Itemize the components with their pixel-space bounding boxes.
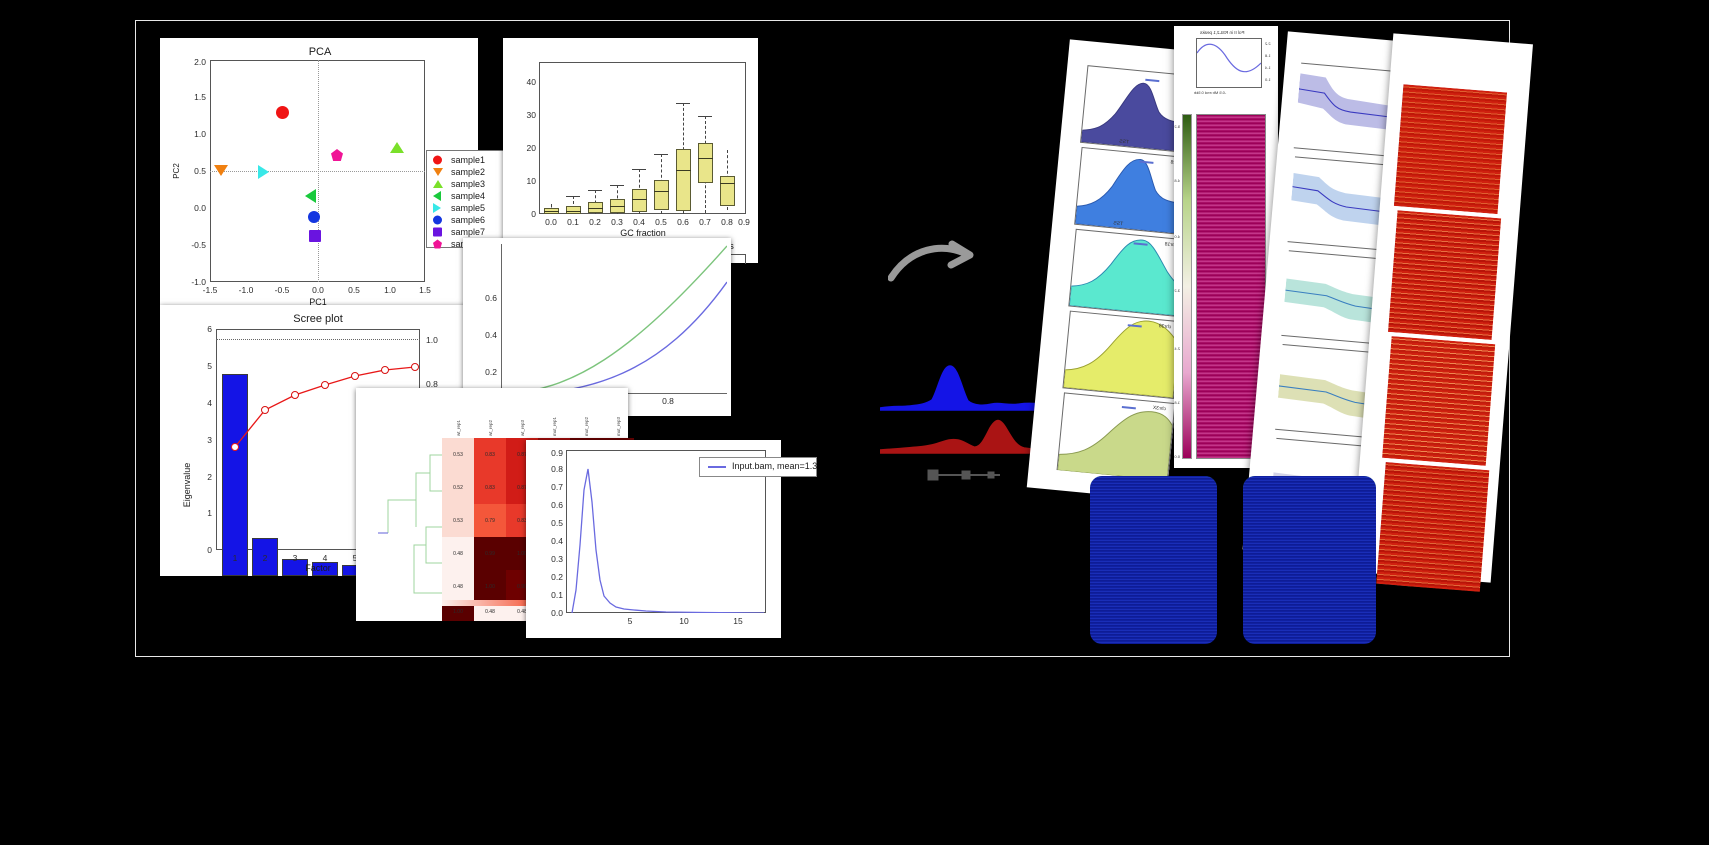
panel-gc-bias: 0 10 20 30 40 xyxy=(503,38,758,263)
gc-cap-3 xyxy=(610,185,624,186)
heatmap-cell: 0.53 xyxy=(442,438,474,471)
scree-ytick-0: 0 xyxy=(207,545,212,555)
scree-cum-point-4 xyxy=(321,381,329,389)
corr-collabel-5: mut_rep3 xyxy=(616,417,621,436)
gc-cap-2 xyxy=(588,190,602,191)
metaprofile-row-2: chr18 xyxy=(1068,229,1187,317)
jet-heatmap-block-3 xyxy=(1376,462,1489,592)
input-track xyxy=(880,421,1055,454)
legend-label: sample4 xyxy=(451,190,485,202)
frag-xtick-2: 15 xyxy=(733,616,742,626)
fp-ytick-2: 0.6 xyxy=(485,293,497,303)
gc-median-5 xyxy=(654,191,669,192)
polii-mini-ytick-3: 2.2 xyxy=(1265,41,1271,46)
viridis-heatmap-0 xyxy=(1090,476,1217,644)
polii-mini-ytick-0: 1.0 xyxy=(1265,77,1271,82)
scree-xlabel: Factor xyxy=(305,563,331,573)
heatmap-cell: 0.52 xyxy=(442,471,474,504)
circle-icon xyxy=(433,216,442,225)
triangle-down-icon xyxy=(433,168,443,176)
pca-point-sample7 xyxy=(309,230,321,242)
gc-median-2 xyxy=(588,208,603,209)
scree-cum-point-1 xyxy=(231,443,239,451)
legend-label: sample6 xyxy=(451,214,485,226)
pca-xtick-3: 0.0 xyxy=(312,285,324,295)
scree-cum-point-2 xyxy=(261,406,269,414)
metaprofile-xtick-center: TSS xyxy=(1113,220,1123,227)
legend-label: sample2 xyxy=(451,166,485,178)
polii-mini-ytick-1: 1.4 xyxy=(1265,65,1271,70)
scree-title: Scree plot xyxy=(293,313,343,325)
heatmap-cell: 0.83 xyxy=(474,471,506,504)
polii-mini-curve xyxy=(1197,39,1261,87)
metaprofile-xtick-center: TSS xyxy=(1119,139,1129,146)
pca-xtick-4: 0.5 xyxy=(348,285,360,295)
gc-box-8 xyxy=(720,176,735,206)
polii-ytick-5: 4.8 xyxy=(1174,178,1180,183)
jet-heatmap-block-1 xyxy=(1388,210,1501,340)
gc-xlabel: GC fraction xyxy=(620,228,666,238)
scree-ytick-5: 5 xyxy=(207,361,212,371)
gc-box-4 xyxy=(632,189,647,212)
polii-ytick-6: 5.2 xyxy=(1174,124,1180,129)
viridis-texture xyxy=(1090,476,1217,644)
gc-xtick-3: 0.3 xyxy=(611,217,623,227)
panel-pca: PCA -1.0 -0.5 0.0 0.5 1.0 1.5 2.0 -1.5 -… xyxy=(160,38,478,319)
pca-ylabel: PC2 xyxy=(172,163,181,179)
frag-ytick-7: 0.7 xyxy=(551,482,563,492)
polii-ytick-1: 1.8 xyxy=(1174,400,1180,405)
pca-point-sample2 xyxy=(214,165,228,176)
metaprofile-row-4: chr3X xyxy=(1057,392,1176,480)
gc-ytick-0: 0 xyxy=(531,209,536,219)
heatmap-cell: 0.48 xyxy=(442,570,474,603)
frag-ytick-8: 0.8 xyxy=(551,464,563,474)
pca-xtick-6: 1.5 xyxy=(419,285,431,295)
triangle-right-icon xyxy=(433,203,441,213)
frag-ytick-1: 0.1 xyxy=(551,590,563,600)
viridis-heatmap-1 xyxy=(1243,476,1376,644)
frag-ytick-9: 0.9 xyxy=(551,448,563,458)
frag-ytick-5: 0.5 xyxy=(551,518,563,528)
pca-ytick-5: 1.5 xyxy=(194,92,206,102)
frag-ytick-0: 0.0 xyxy=(551,608,563,618)
metaprofile-label: chr38 xyxy=(1159,323,1172,330)
pca-vline xyxy=(318,60,319,282)
gc-median-7 xyxy=(698,158,713,159)
scree-xtick-4: 4 xyxy=(323,553,328,563)
gc-cap-4 xyxy=(632,169,646,170)
heatmap-cell: 1.00 xyxy=(474,570,506,603)
fraglen-legend-label: Input.bam, mean=1.3 xyxy=(732,461,817,471)
gc-xtick-2: 0.2 xyxy=(589,217,601,227)
gc-xtick-0: 0.0 xyxy=(545,217,557,227)
heatmap-cell: 0.53 xyxy=(442,504,474,537)
gc-cap-1 xyxy=(566,196,580,197)
scree-ytick-2: 2 xyxy=(207,472,212,482)
polii-ytick-0: 0.0 xyxy=(1174,454,1180,459)
scree-ylabel: Eigenvalue xyxy=(182,463,192,508)
gene-model-icon xyxy=(928,470,1000,480)
metaprofile-row-3: chr38 xyxy=(1062,311,1181,399)
polii-xlabel: -0.5 Mb end 0.5kb xyxy=(1194,90,1226,95)
polii-title: Pol II in RSL2,1 peaks xyxy=(1200,30,1245,35)
jet-heatmap-block-0 xyxy=(1394,84,1507,214)
triangle-left-icon xyxy=(433,191,441,201)
jet-heatmap-texture xyxy=(1388,210,1501,340)
fraglen-legend: Input.bam, mean=1.3 xyxy=(699,457,817,477)
legend-label: sample5 xyxy=(451,202,485,214)
pca-xtick-5: 1.0 xyxy=(384,285,396,295)
viridis-texture xyxy=(1243,476,1376,644)
gc-box-5 xyxy=(654,180,669,210)
jet-heatmap-block-2 xyxy=(1382,336,1495,466)
polii-mini-ytick-2: 1.8 xyxy=(1265,53,1271,58)
legend-line-icon xyxy=(708,466,726,468)
frag-xtick-0: 5 xyxy=(628,616,633,626)
scree-y2tick-1: 1.0 xyxy=(426,335,438,345)
jet-heatmap-texture xyxy=(1382,336,1495,466)
pca-ytick-4: 1.0 xyxy=(194,129,206,139)
gc-cap-7 xyxy=(698,116,712,117)
gc-xtick-7: 0.7 xyxy=(699,217,711,227)
pca-title: PCA xyxy=(309,46,332,58)
correlation-dendrogram xyxy=(376,433,442,608)
pca-ytick-1: -0.5 xyxy=(191,240,206,250)
gc-cap-6 xyxy=(676,103,690,104)
gc-median-6 xyxy=(676,170,691,171)
figure-canvas: PCA -1.0 -0.5 0.0 0.5 1.0 1.5 2.0 -1.5 -… xyxy=(0,0,1709,845)
gc-median-4 xyxy=(632,199,647,200)
gc-ytick-4: 40 xyxy=(527,77,536,87)
panel-fragment-length: 0.0 0.1 0.2 0.3 0.4 0.5 0.6 0.7 0.8 0.9 … xyxy=(526,440,781,638)
corr-collabel-4: mut_rep2 xyxy=(584,417,589,436)
scree-ytick-6: 6 xyxy=(207,324,212,334)
gc-xtick-6: 0.6 xyxy=(677,217,689,227)
corr-collabel-2: wt_rep3 xyxy=(520,420,525,436)
pca-ytick-2: 0.0 xyxy=(194,203,206,213)
pca-point-sample3 xyxy=(390,142,404,153)
pca-ytick-3: 0.5 xyxy=(194,166,206,176)
polii-ytick-2: 2.4 xyxy=(1174,346,1180,351)
corr-collabel-1: wt_rep2 xyxy=(488,420,493,436)
pentagon-icon xyxy=(433,240,442,249)
pca-point-sample5 xyxy=(258,165,269,179)
fingerprint-curves xyxy=(501,244,727,395)
gc-xtick-5: 0.5 xyxy=(655,217,667,227)
chip-track xyxy=(880,366,1055,410)
scree-cum-point-6 xyxy=(381,366,389,374)
pca-xtick-2: -0.5 xyxy=(275,285,290,295)
polii-mini-axes: 2.2 1.8 1.4 1.0 xyxy=(1196,38,1262,88)
polii-ytick-4: 4.0 xyxy=(1174,234,1180,239)
pca-point-sample6 xyxy=(308,211,320,223)
gc-xtick-4: 0.4 xyxy=(633,217,645,227)
polii-colorbar xyxy=(1182,114,1192,459)
gc-box-1 xyxy=(566,206,581,214)
heatmap-cell: 0.99 xyxy=(474,537,506,570)
pca-point-sample1 xyxy=(276,106,289,119)
gc-box-7 xyxy=(698,143,713,183)
scree-cum-point-3 xyxy=(291,391,299,399)
corr-collabel-0: wt_rep1 xyxy=(456,420,461,436)
square-icon xyxy=(433,228,442,237)
polii-ytick-3: 3.2 xyxy=(1174,288,1180,293)
gc-ytick-1: 10 xyxy=(527,176,536,186)
scree-xtick-2: 2 xyxy=(263,553,268,563)
fp-ytick-0: 0.2 xyxy=(485,367,497,377)
scree-cum-point-7 xyxy=(411,363,419,371)
pca-xtick-0: -1.5 xyxy=(203,285,218,295)
fp-xtick-1: 0.8 xyxy=(662,396,674,406)
gc-xtick-1: 0.1 xyxy=(567,217,579,227)
frag-xtick-1: 10 xyxy=(679,616,688,626)
scree-xtick-3: 3 xyxy=(293,553,298,563)
scree-cum-point-5 xyxy=(351,372,359,380)
jet-heatmap-texture xyxy=(1376,462,1489,592)
scree-ytick-4: 4 xyxy=(207,398,212,408)
gc-box-6 xyxy=(676,149,691,211)
workflow-arrow-icon xyxy=(888,238,980,286)
scree-ytick-3: 3 xyxy=(207,435,212,445)
gc-median-3 xyxy=(610,206,625,207)
pca-point-sample4 xyxy=(305,189,316,203)
pca-ytick-6: 2.0 xyxy=(194,57,206,67)
frag-ytick-6: 0.6 xyxy=(551,500,563,510)
scree-xtick-1: 1 xyxy=(233,553,238,563)
corr-collabel-3: mut_rep1 xyxy=(552,417,557,436)
gc-xtick-9: 0.9 xyxy=(738,217,750,227)
gc-ytick-2: 20 xyxy=(527,143,536,153)
circle-icon xyxy=(433,156,442,165)
gc-cap-5 xyxy=(654,154,668,155)
heatmap-cell: 0.48 xyxy=(442,537,474,570)
frag-ytick-4: 0.4 xyxy=(551,536,563,546)
scree-ytick-1: 1 xyxy=(207,508,212,518)
legend-label: sample1 xyxy=(451,154,485,166)
gc-median-1 xyxy=(566,211,581,212)
metaprofile-label: chr3X xyxy=(1153,405,1167,412)
gc-median-0 xyxy=(544,211,559,212)
heatmap-cell: 0.83 xyxy=(474,438,506,471)
gc-xtick-8: 0.8 xyxy=(721,217,733,227)
frag-ytick-2: 0.2 xyxy=(551,572,563,582)
triangle-up-icon xyxy=(433,180,443,188)
frag-ytick-3: 0.3 xyxy=(551,554,563,564)
gc-ytick-3: 30 xyxy=(527,110,536,120)
jet-heatmap-texture xyxy=(1394,84,1507,214)
gc-median-8 xyxy=(720,183,735,184)
fp-ytick-1: 0.4 xyxy=(485,330,497,340)
legend-label: sample3 xyxy=(451,178,485,190)
legend-label: sample7 xyxy=(451,226,485,238)
heatmap-cell: 0.79 xyxy=(474,504,506,537)
pca-xtick-1: -1.0 xyxy=(239,285,254,295)
